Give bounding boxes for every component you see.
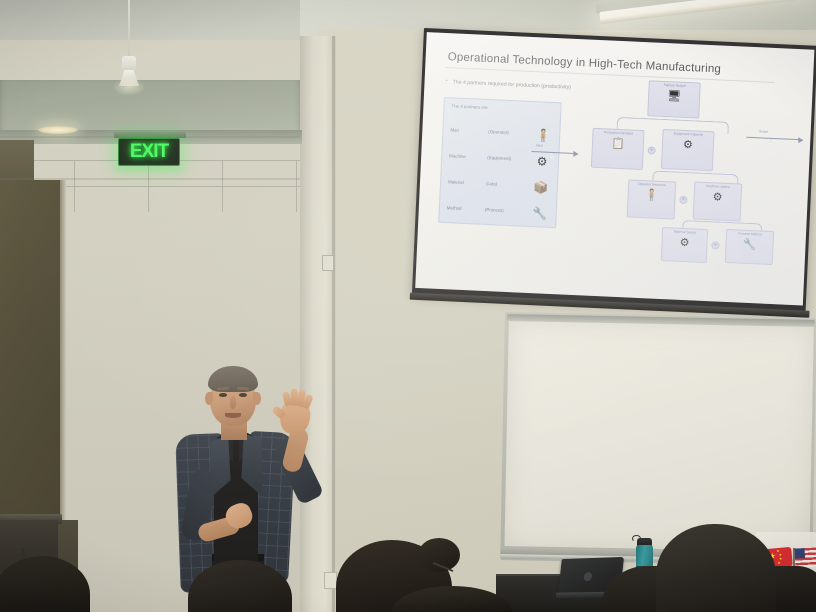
- flow-operator: +: [679, 196, 687, 204]
- pendant-body: [122, 56, 136, 72]
- eye-right: [239, 393, 247, 397]
- flow-node: Factory Output 🖥: [647, 80, 701, 118]
- eye-left: [219, 393, 227, 397]
- screen-surface: Operational Technology in High-Tech Manu…: [415, 32, 814, 305]
- wall-panel-edge: [60, 180, 66, 520]
- pendant-glow: [112, 78, 146, 96]
- acoustic-wall-panel: [0, 180, 62, 520]
- ear-left: [205, 392, 213, 405]
- flow-node: Process Method 🔧: [725, 229, 774, 265]
- partner-key: Method: [447, 205, 462, 211]
- partner-key: Man: [450, 127, 459, 132]
- partner-key: Machine: [449, 153, 466, 159]
- slide-title: Operational Technology in High-Tech Manu…: [447, 51, 721, 75]
- pendant-cord: [128, 0, 130, 58]
- slide-partners-card: The 4 partners are Man (Operator) 🧍 Mach…: [438, 97, 562, 228]
- whiteboard-surface: [505, 320, 814, 552]
- flow-node-label: Production Demand: [604, 131, 633, 136]
- slide: Operational Technology in High-Tech Manu…: [415, 32, 814, 305]
- slide-flow-diagram: Factory Output 🖥 Production Demand 📋 + E…: [569, 77, 804, 251]
- flow-node: Machine Uptime ⚙: [693, 181, 743, 221]
- gear-icon: ⚙: [712, 190, 722, 203]
- hair-bun: [418, 538, 460, 572]
- flow-node-label: Material Supply: [674, 231, 697, 236]
- flow-node: Material Supply ⚙: [661, 227, 708, 263]
- chip-icon: 🖥: [667, 89, 682, 103]
- flow-node-label: Process Method: [738, 232, 762, 237]
- document-icon: 📄: [549, 154, 556, 160]
- gear-icon: ⚙: [679, 236, 689, 249]
- person-icon: 🧍: [645, 188, 659, 202]
- raised-open-hand: [278, 398, 312, 436]
- ear-right: [253, 392, 261, 405]
- gear-icon: ⚙: [683, 138, 693, 151]
- flow-arrow-output-label: Output: [759, 129, 769, 133]
- exit-sign-face: EXIT: [118, 138, 180, 166]
- flow-node-label: Equipment Capacity: [674, 132, 704, 137]
- flow-node: Equipment Capacity ⚙: [661, 129, 715, 171]
- partner-value: (Lots): [486, 181, 497, 187]
- flag-canton: [795, 548, 806, 559]
- flow-operator: +: [711, 241, 719, 249]
- recessed-light-icon: [38, 126, 78, 134]
- wall-plate: [322, 255, 334, 271]
- flow-arrow-input-label: Input: [536, 143, 543, 147]
- flow-node: Production Demand 📋: [591, 128, 645, 170]
- document-icon: 📄: [766, 140, 773, 146]
- partner-row: Method (Process) 🔧: [446, 198, 551, 227]
- lecture-hall-photo: EXIT Operational Technology in High-Tech…: [0, 0, 816, 612]
- thumb: [271, 405, 286, 419]
- partner-value: (Equipment): [487, 155, 511, 161]
- flow-node: Operator Resource 🧍: [627, 179, 677, 219]
- flag-usa: [795, 547, 816, 567]
- flow-arrow-output: [746, 137, 802, 141]
- report-icon: 📋: [611, 136, 625, 150]
- wall-seam-upper: [0, 178, 300, 180]
- laptop-logo-icon: [583, 572, 592, 581]
- partner-value: (Operator): [488, 129, 508, 135]
- partner-value: (Process): [485, 207, 504, 213]
- workflow-icon: 🔧: [530, 203, 549, 224]
- flow-node-label: Machine Uptime: [706, 185, 730, 190]
- presenter-hair: [208, 366, 258, 392]
- projection-screen: Operational Technology in High-Tech Manu…: [412, 28, 816, 312]
- partner-row: Material (Lots) 📦: [447, 172, 552, 201]
- tool-icon: 🔧: [742, 237, 756, 251]
- slide-bullet: The 4 partners required for production (…: [452, 79, 571, 90]
- box-icon: 📦: [531, 177, 550, 198]
- nose: [230, 396, 236, 409]
- partner-key: Material: [448, 179, 464, 185]
- mouth: [225, 413, 241, 418]
- exit-sign: EXIT: [112, 132, 188, 174]
- flow-operator: +: [648, 146, 656, 154]
- partners-card-heading: The 4 partners are: [451, 103, 487, 110]
- whiteboard: [500, 312, 816, 566]
- exit-sign-spill: [116, 166, 182, 171]
- exit-sign-label: EXIT: [130, 141, 168, 163]
- flow-node-label: Operator Resource: [638, 183, 666, 188]
